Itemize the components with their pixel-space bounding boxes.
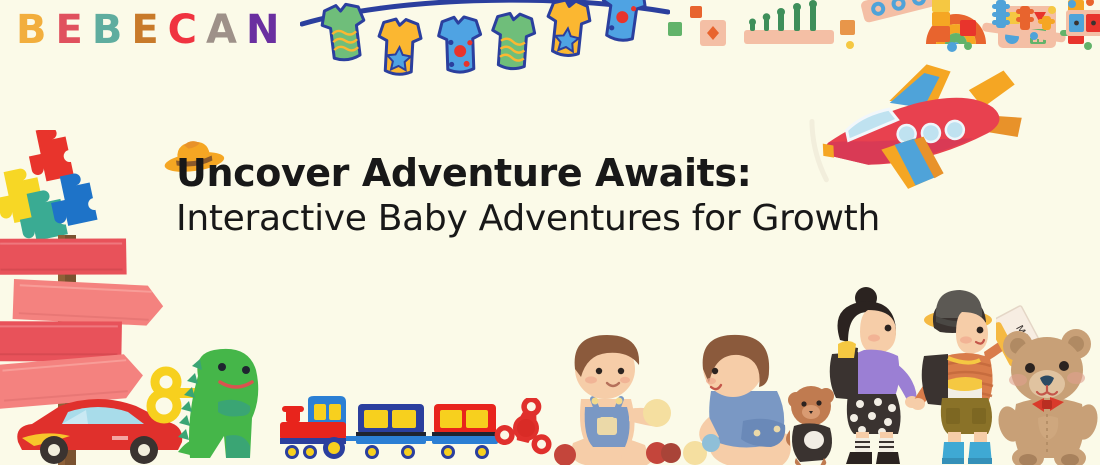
headline-block: Uncover Adventure Awaits: Interactive Ba… xyxy=(176,152,880,240)
toy-train xyxy=(278,388,498,465)
baby-clothes-bunting xyxy=(300,0,670,78)
babies-playing xyxy=(545,325,797,465)
headline-line-2: Interactive Baby Adventures for Growth xyxy=(176,198,880,240)
logo-letter-3: B xyxy=(92,10,123,50)
hero-banner: B E B E C A N xyxy=(0,0,1100,465)
logo-letter-7: N xyxy=(246,10,279,50)
logo-letter-6: A xyxy=(206,10,237,50)
logo-letter-1: B xyxy=(16,10,47,50)
hiking-children xyxy=(824,282,1020,465)
brand-logo[interactable]: B E B E C A N xyxy=(16,10,279,50)
teddy-bear-large xyxy=(992,318,1100,465)
headline-line-1: Uncover Adventure Awaits: xyxy=(176,152,880,195)
puzzle-pieces xyxy=(0,130,108,246)
logo-letter-5: C xyxy=(168,10,197,50)
toy-airplane xyxy=(800,62,1032,198)
logo-letter-2: E xyxy=(56,10,83,50)
wooden-toys-border-right xyxy=(930,0,1100,54)
fedora-hat xyxy=(156,136,232,182)
logo-letter-4: E xyxy=(131,10,158,50)
wind-up-dinosaur xyxy=(140,340,270,465)
